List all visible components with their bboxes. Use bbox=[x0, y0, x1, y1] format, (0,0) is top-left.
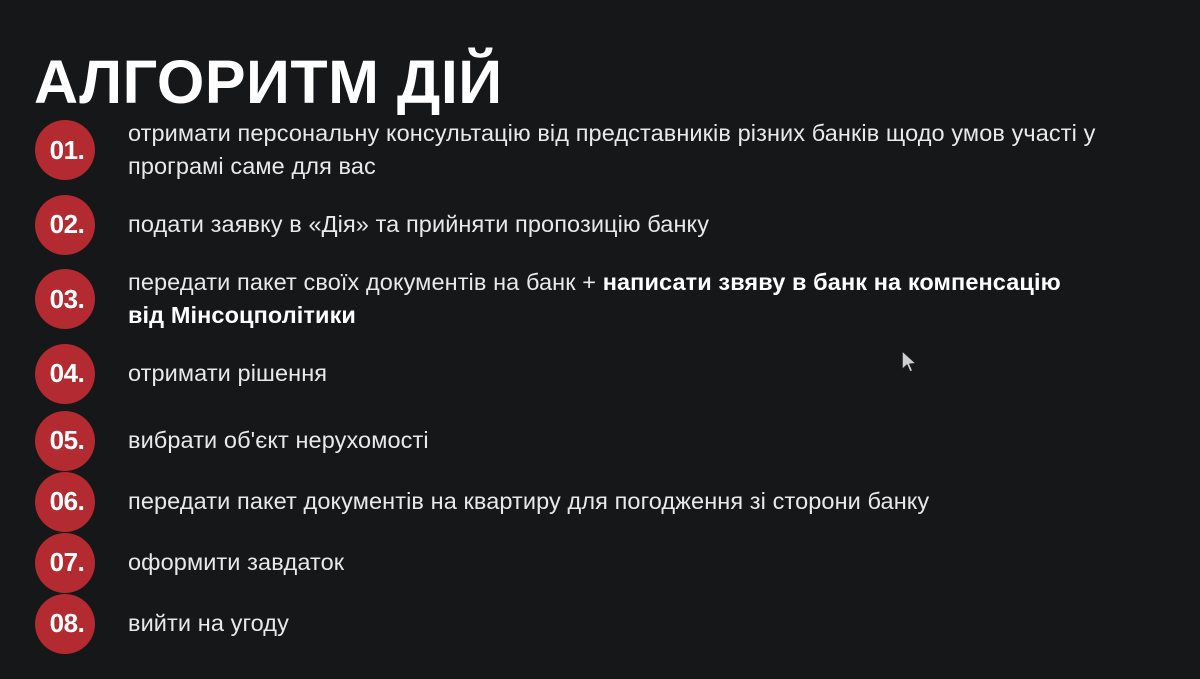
step-text-regular: отримати рішення bbox=[128, 360, 327, 386]
step-text-06: передати пакет документів на квартиру дл… bbox=[128, 485, 1180, 518]
step-number-label: 03. bbox=[50, 284, 85, 315]
step-text-07: оформити завдаток bbox=[128, 546, 1180, 579]
step-number-label: 04. bbox=[50, 358, 85, 389]
list-item: 01. отримати персональну консультацію ві… bbox=[0, 112, 1200, 188]
step-badge-07: 07. bbox=[35, 533, 95, 593]
list-item: 02. подати заявку в «Дія» та прийняти пр… bbox=[0, 188, 1200, 261]
slide-root: АЛГОРИТМ ДІЙ 01. отримати персональну ко… bbox=[0, 0, 1200, 679]
step-badge-03: 03. bbox=[35, 269, 95, 329]
list-item: 08. вийти на угоду bbox=[0, 593, 1200, 654]
step-text-03: передати пакет своїх документів на банк … bbox=[128, 266, 1073, 332]
step-number-label: 02. bbox=[50, 209, 85, 240]
step-number-label: 07. bbox=[50, 547, 85, 578]
step-text-regular: подати заявку в «Дія» та прийняти пропоз… bbox=[128, 211, 709, 237]
step-text-01: отримати персональну консультацію від пр… bbox=[128, 117, 1163, 183]
step-text-04: отримати рішення bbox=[128, 357, 1180, 390]
step-text-regular: передати пакет своїх документів на банк … bbox=[128, 269, 603, 295]
step-badge-05: 05. bbox=[35, 411, 95, 471]
list-item: 03. передати пакет своїх документів на б… bbox=[0, 261, 1200, 337]
step-text-regular: вийти на угоду bbox=[128, 610, 289, 636]
step-text-regular: передати пакет документів на квартиру дл… bbox=[128, 488, 929, 514]
step-badge-02: 02. bbox=[35, 195, 95, 255]
step-badge-01: 01. bbox=[35, 120, 95, 180]
list-item: 05. вибрати об'єкт нерухомості bbox=[0, 410, 1200, 471]
step-badge-04: 04. bbox=[35, 344, 95, 404]
step-text-02: подати заявку в «Дія» та прийняти пропоз… bbox=[128, 208, 1180, 241]
list-item: 04. отримати рішення bbox=[0, 337, 1200, 410]
list-item: 06. передати пакет документів на квартир… bbox=[0, 471, 1200, 532]
step-number-label: 08. bbox=[50, 608, 85, 639]
step-text-regular: вибрати об'єкт нерухомості bbox=[128, 427, 429, 453]
step-text-regular: отримати персональну консультацію від пр… bbox=[128, 120, 1095, 179]
steps-list: 01. отримати персональну консультацію ві… bbox=[0, 112, 1200, 654]
step-text-05: вибрати об'єкт нерухомості bbox=[128, 424, 1180, 457]
step-number-label: 05. bbox=[50, 425, 85, 456]
page-title: АЛГОРИТМ ДІЙ bbox=[34, 50, 503, 114]
step-number-label: 01. bbox=[50, 135, 85, 166]
step-badge-08: 08. bbox=[35, 594, 95, 654]
step-text-08: вийти на угоду bbox=[128, 607, 1180, 640]
step-number-label: 06. bbox=[50, 486, 85, 517]
step-badge-06: 06. bbox=[35, 472, 95, 532]
step-text-regular: оформити завдаток bbox=[128, 549, 344, 575]
list-item: 07. оформити завдаток bbox=[0, 532, 1200, 593]
